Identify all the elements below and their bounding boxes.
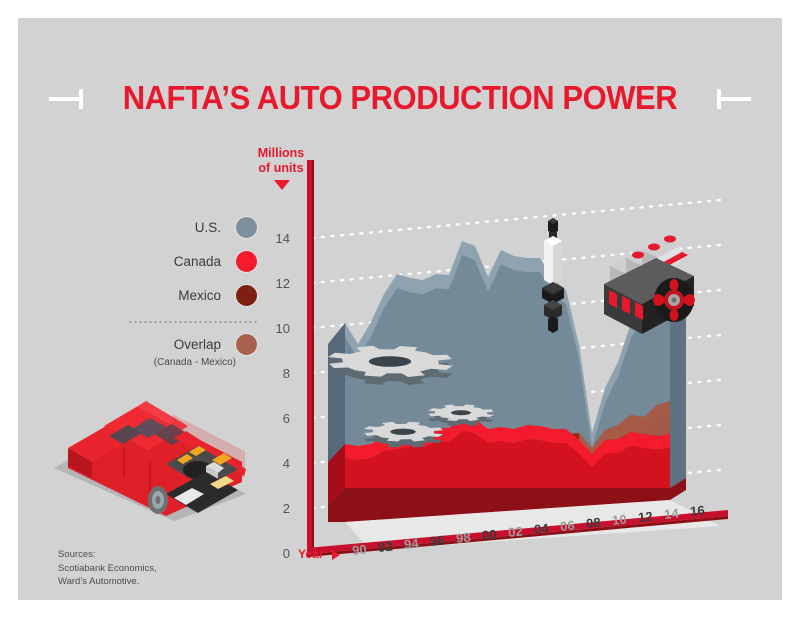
- y-axis-line: [307, 160, 312, 548]
- sources-block: Sources: Scotiabank Economics, Ward’s Au…: [58, 548, 157, 589]
- x-tick-04: 04: [533, 521, 549, 537]
- x-axis-arrow-icon: [332, 550, 340, 560]
- car-illustration: [46, 390, 256, 525]
- x-tick-10: 10: [611, 512, 627, 528]
- legend-label-canada: Canada: [174, 254, 221, 269]
- legend-sublabel-overlap: (Canada - Mexico): [128, 357, 236, 368]
- y-axis-line-shade: [312, 160, 314, 548]
- title-bracket-right-icon: [709, 87, 751, 109]
- chart-area: Millions of units 14 12 10 8 6 4 2 0: [250, 138, 750, 578]
- legend: U.S. Canada Mexico Overlap (Canada - Mex…: [128, 210, 258, 368]
- x-tick-02: 02: [507, 524, 523, 540]
- sources-heading: Sources:: [58, 548, 157, 562]
- x-tick-90: 90: [351, 542, 367, 558]
- sources-line-1: Scotiabank Economics,: [58, 562, 157, 576]
- legend-label-overlap: Overlap: [174, 337, 221, 352]
- x-axis-label: Year: [298, 547, 323, 561]
- legend-label-mexico: Mexico: [178, 288, 221, 303]
- x-tick-98: 98: [455, 530, 471, 546]
- legend-label-us: U.S.: [195, 220, 221, 235]
- infographic-canvas: NAFTA’S AUTO PRODUCTION POWER U.S. Canad…: [0, 0, 800, 618]
- infographic-panel: NAFTA’S AUTO PRODUCTION POWER U.S. Canad…: [18, 18, 782, 600]
- x-tick-14: 14: [663, 506, 679, 522]
- legend-item-us[interactable]: U.S.: [128, 210, 258, 244]
- x-tick-94: 94: [403, 536, 419, 552]
- x-tick-96: 96: [429, 533, 445, 549]
- x-tick-06: 06: [559, 518, 575, 534]
- x-tick-92: 92: [377, 539, 393, 555]
- legend-item-mexico[interactable]: Mexico: [128, 278, 258, 312]
- sources-line-2: Ward’s Automotive.: [58, 575, 157, 589]
- legend-item-canada[interactable]: Canada: [128, 244, 258, 278]
- x-tick-16: 16: [689, 503, 705, 519]
- title-bar: NAFTA’S AUTO PRODUCTION POWER: [18, 72, 782, 124]
- x-tick-00: 00: [481, 527, 497, 543]
- x-tick-12: 12: [637, 509, 653, 525]
- title-bracket-left-icon: [49, 87, 91, 109]
- x-tick-08: 08: [585, 515, 601, 531]
- engine-block-icon: [604, 236, 696, 335]
- legend-item-overlap[interactable]: Overlap: [128, 327, 258, 361]
- page-title: NAFTA’S AUTO PRODUCTION POWER: [123, 79, 678, 117]
- legend-divider: [128, 321, 258, 323]
